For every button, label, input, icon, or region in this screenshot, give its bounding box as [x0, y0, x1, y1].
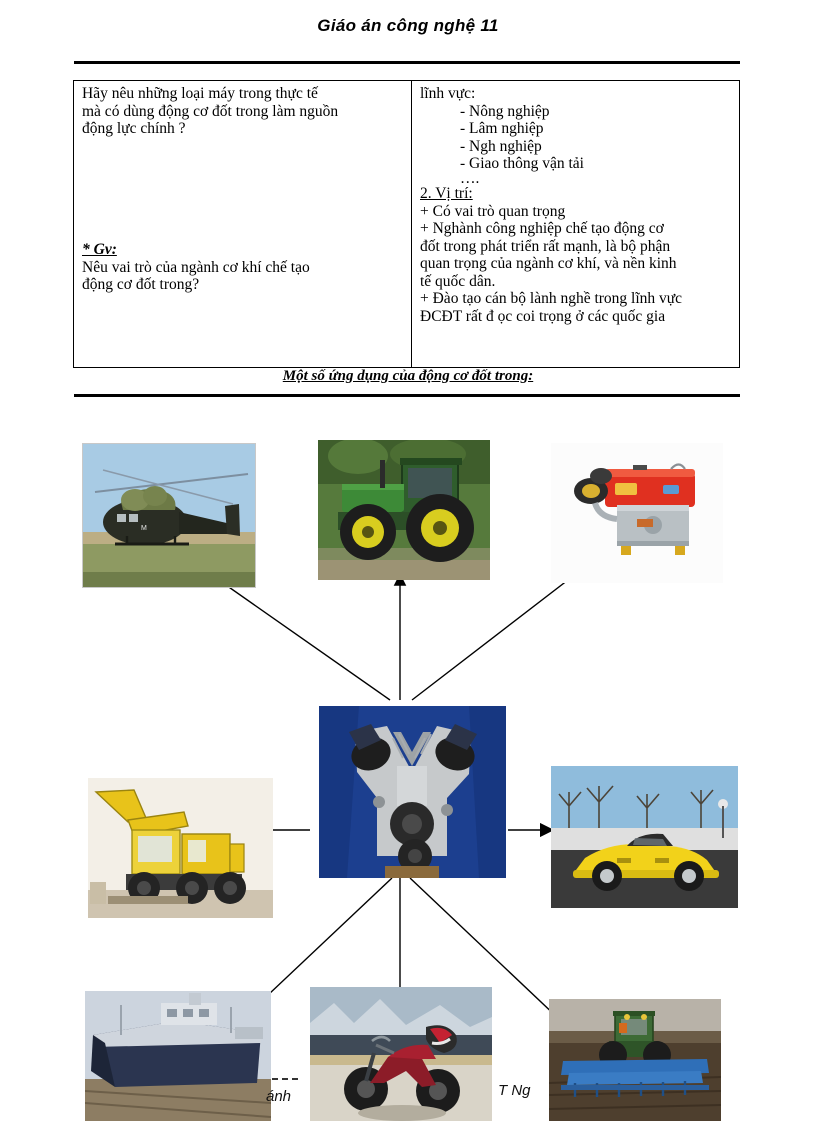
- ship-photo: [85, 991, 271, 1121]
- list-item: - Ngh nghiệp: [460, 138, 733, 156]
- horizontal-rule-top: [74, 61, 740, 64]
- stray-text-left: ánh: [266, 1088, 291, 1105]
- diesel-engine-photo: [551, 443, 723, 583]
- teacher-question-text: Nêu vai trò của ngành cơ khí chế tạo độn…: [82, 259, 402, 294]
- list-item: - Lâm nghiệp: [460, 120, 733, 138]
- list-item: - Giao thông vận tải: [460, 155, 733, 173]
- table-cell-right: lĩnh vực: - Nông nghiệp - Lâm nghiệp - N…: [412, 81, 739, 367]
- applications-diagram: M: [0, 400, 816, 1123]
- student-question-text: Hãy nêu những loại máy trong thực tế mà …: [82, 85, 405, 138]
- sports-car-photo: [551, 766, 738, 908]
- fields-heading: lĩnh vực:: [420, 85, 733, 103]
- tractor-photo: [318, 440, 490, 580]
- position-point-2: + Nghành công nghiệp chế tạo động cơ đốt…: [420, 220, 733, 290]
- horizontal-rule-mid: [74, 394, 740, 397]
- excavator-photo: [88, 778, 273, 918]
- teacher-prompt-block: * Gv: Nêu vai trò của ngành cơ khí chế t…: [82, 241, 402, 294]
- plow-tractor-photo: [549, 999, 721, 1121]
- position-point-3: + Đào tạo cán bộ lành nghề trong lĩnh vự…: [420, 290, 733, 325]
- motorcycle-photo: [310, 987, 492, 1121]
- fields-list: - Nông nghiệp - Lâm nghiệp - Ngh nghiệp …: [420, 103, 733, 173]
- engine-block-photo: [319, 706, 506, 878]
- helicopter-photo: M: [82, 443, 256, 588]
- position-point-1: + Có vai trò quan trọng: [420, 203, 733, 221]
- list-item: - Nông nghiệp: [460, 103, 733, 121]
- svg-text:M: M: [141, 525, 147, 532]
- stray-text-right: T Ng: [498, 1082, 531, 1099]
- lesson-table: Hãy nêu những loại máy trong thực tế mà …: [73, 80, 740, 368]
- table-cell-left: Hãy nêu những loại máy trong thực tế mà …: [74, 81, 412, 367]
- section-heading-position: 2. Vị trí:: [420, 185, 733, 203]
- page-title: Giáo án công nghệ 11: [0, 16, 816, 36]
- ellipsis-text: ….: [420, 173, 733, 185]
- teacher-label: * Gv:: [82, 241, 402, 259]
- applications-caption: Một số ứng dụng của động cơ đốt trong:: [0, 368, 816, 385]
- stray-dash-line: [272, 1078, 298, 1080]
